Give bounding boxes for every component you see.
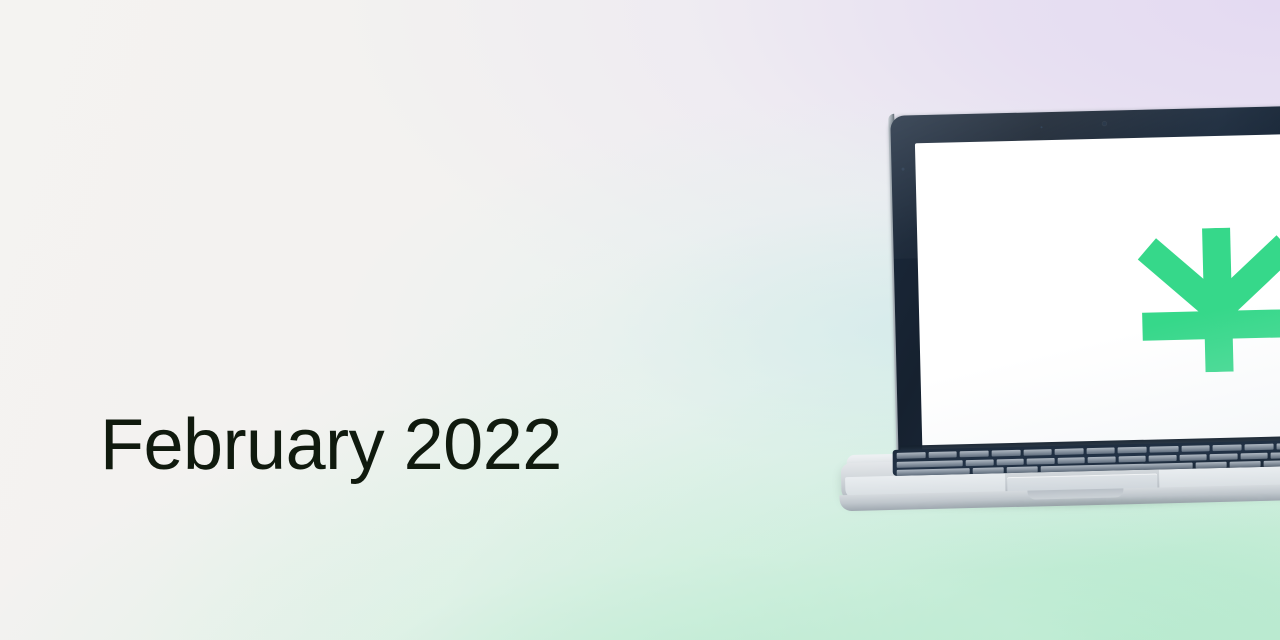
keyboard-key xyxy=(1086,448,1115,455)
keyboard-key xyxy=(1118,447,1147,454)
keyboard-key xyxy=(1230,461,1261,468)
keyboard-key xyxy=(897,460,963,468)
keyboard-key xyxy=(966,459,994,466)
keyboard-key xyxy=(928,451,957,458)
keyboard-key xyxy=(1055,448,1084,455)
keyboard-key xyxy=(1263,459,1280,467)
keyboard-key xyxy=(1213,444,1242,451)
keyboard-key xyxy=(897,452,926,459)
keyboard-key xyxy=(1118,456,1146,463)
keyboard-key xyxy=(960,451,989,458)
keyboard-key xyxy=(1149,455,1177,462)
keyboard-key xyxy=(1023,449,1052,456)
keyboard-key xyxy=(1210,454,1238,461)
keyboard-key xyxy=(1150,446,1179,453)
keyboard-key xyxy=(1240,453,1268,460)
keyboard-key xyxy=(1057,457,1085,464)
keyboard-key xyxy=(1181,445,1210,452)
webcam-icon xyxy=(1102,122,1106,126)
bezel-sensor-icon xyxy=(901,168,904,171)
laptop-illustration xyxy=(822,84,1280,565)
keyboard-key xyxy=(1276,443,1280,450)
hero-banner: February 2022 blogs roundup xyxy=(0,0,1280,640)
keyboard-key xyxy=(1007,466,1038,473)
laptop-screen xyxy=(915,134,1280,454)
keyboard-key xyxy=(973,467,1004,474)
page-title: February 2022 blogs roundup xyxy=(100,232,562,640)
page-title-line-1: February 2022 xyxy=(100,403,562,489)
keyboard-key xyxy=(1271,451,1280,459)
laptop-screen-lid xyxy=(890,106,1280,474)
keyboard-key xyxy=(1027,458,1055,465)
aiven-asterisk-logo-icon xyxy=(1135,226,1280,374)
keyboard-key xyxy=(1179,454,1207,461)
keyboard-key xyxy=(1196,462,1227,469)
keyboard-key xyxy=(992,450,1021,457)
sensor-dot-icon xyxy=(1041,126,1043,128)
keyboard-key xyxy=(1245,444,1274,451)
keyboard-key xyxy=(996,459,1024,466)
keyboard-key xyxy=(1088,457,1116,464)
